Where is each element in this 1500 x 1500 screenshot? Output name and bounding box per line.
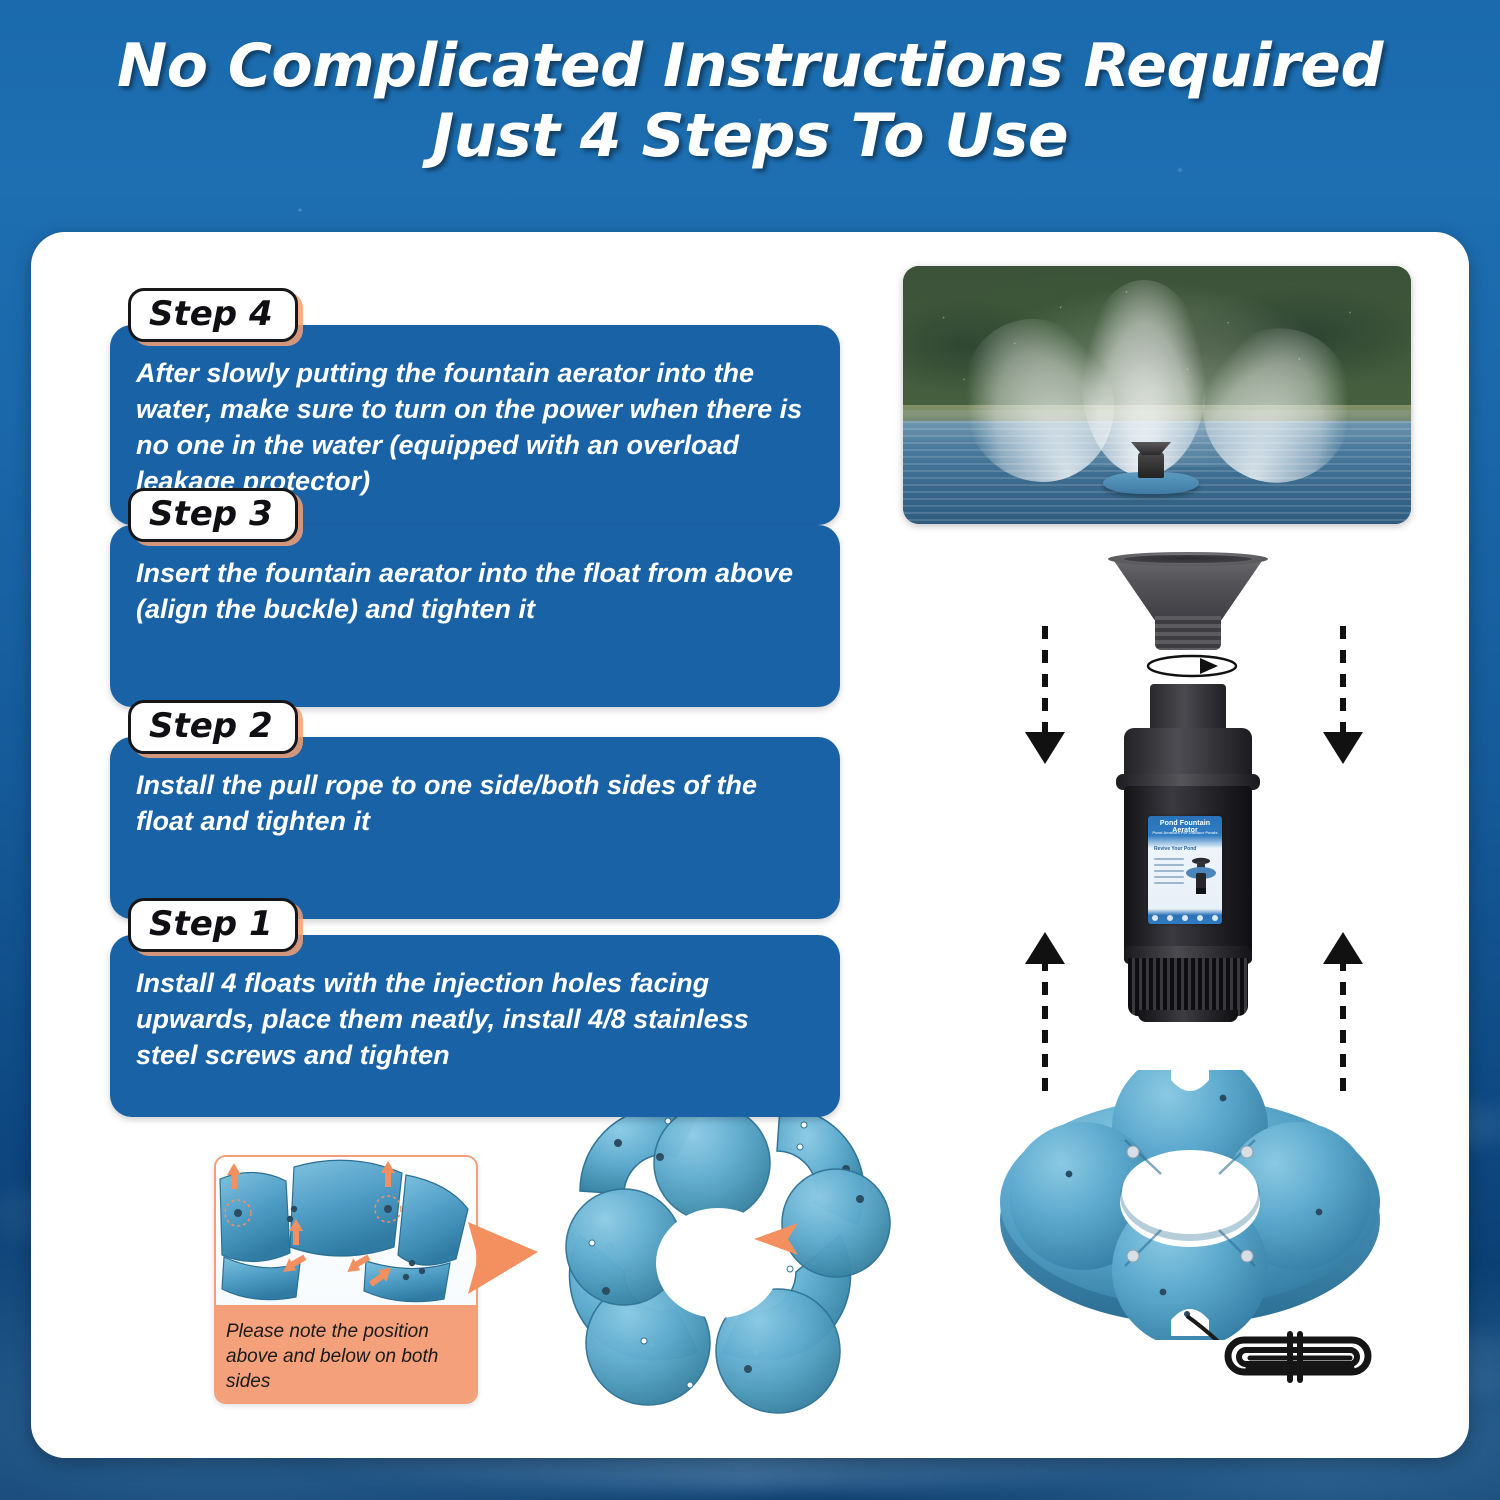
pump-exploded-diagram: Pond Fountain Aerator Pond Aerators For … [1020,548,1380,1068]
nozzle-thread-icon [1155,616,1221,650]
step-badge-2: Step 2 [128,700,298,754]
note-float-detail [216,1157,476,1305]
step-text-2: Install the pull rope to one side/both s… [110,737,840,919]
label-spec-lines [1154,858,1184,888]
pump-foot [1138,1010,1238,1022]
step-item-2: Step 2 Install the pull rope to one side… [110,700,840,919]
orange-callout-arrow-icon [468,1218,548,1298]
step-text-1: Install 4 floats with the injection hole… [110,935,840,1117]
pump-unit-icon [1138,452,1164,478]
label-feature-icons [1148,915,1222,921]
fountain-photo [903,266,1411,524]
nozzle-rim-icon [1108,552,1268,566]
exploded-float-diagram [540,1095,930,1445]
exploded-float-svg [540,1095,930,1445]
label-subtitle: Pond Aerators For Outdoor Ponds [1148,830,1222,835]
note-text: Please note the position above and below… [226,1319,468,1394]
step-badge-1: Step 1 [128,898,298,952]
step-badge-4: Step 4 [128,288,298,342]
dashed-down-arrow-icon-left [1042,626,1048,738]
label-product-image [1184,852,1218,898]
coiled-rope-icon [1220,1300,1380,1420]
step-text-3: Insert the fountain aerator into the flo… [110,525,840,707]
pump-shoulder [1124,728,1252,780]
note-photo [216,1157,476,1305]
position-note-inset: Please note the position above and below… [214,1155,478,1404]
step-item-1: Step 1 Install 4 floats with the injecti… [110,898,840,1117]
step-badge-3: Step 3 [128,488,298,542]
page-title: No Complicated Instructions Required Jus… [0,34,1500,168]
pump-intake-screen [1128,958,1248,1016]
title-line-1: No Complicated Instructions Required [117,31,1383,101]
dashed-down-arrow-icon-right [1340,626,1346,738]
nozzle-cone-icon [1112,558,1264,620]
title-line-2: Just 4 Steps To Use [0,104,1500,168]
product-label: Pond Fountain Aerator Pond Aerators For … [1148,816,1222,924]
rotate-arrow-icon [1142,654,1242,680]
